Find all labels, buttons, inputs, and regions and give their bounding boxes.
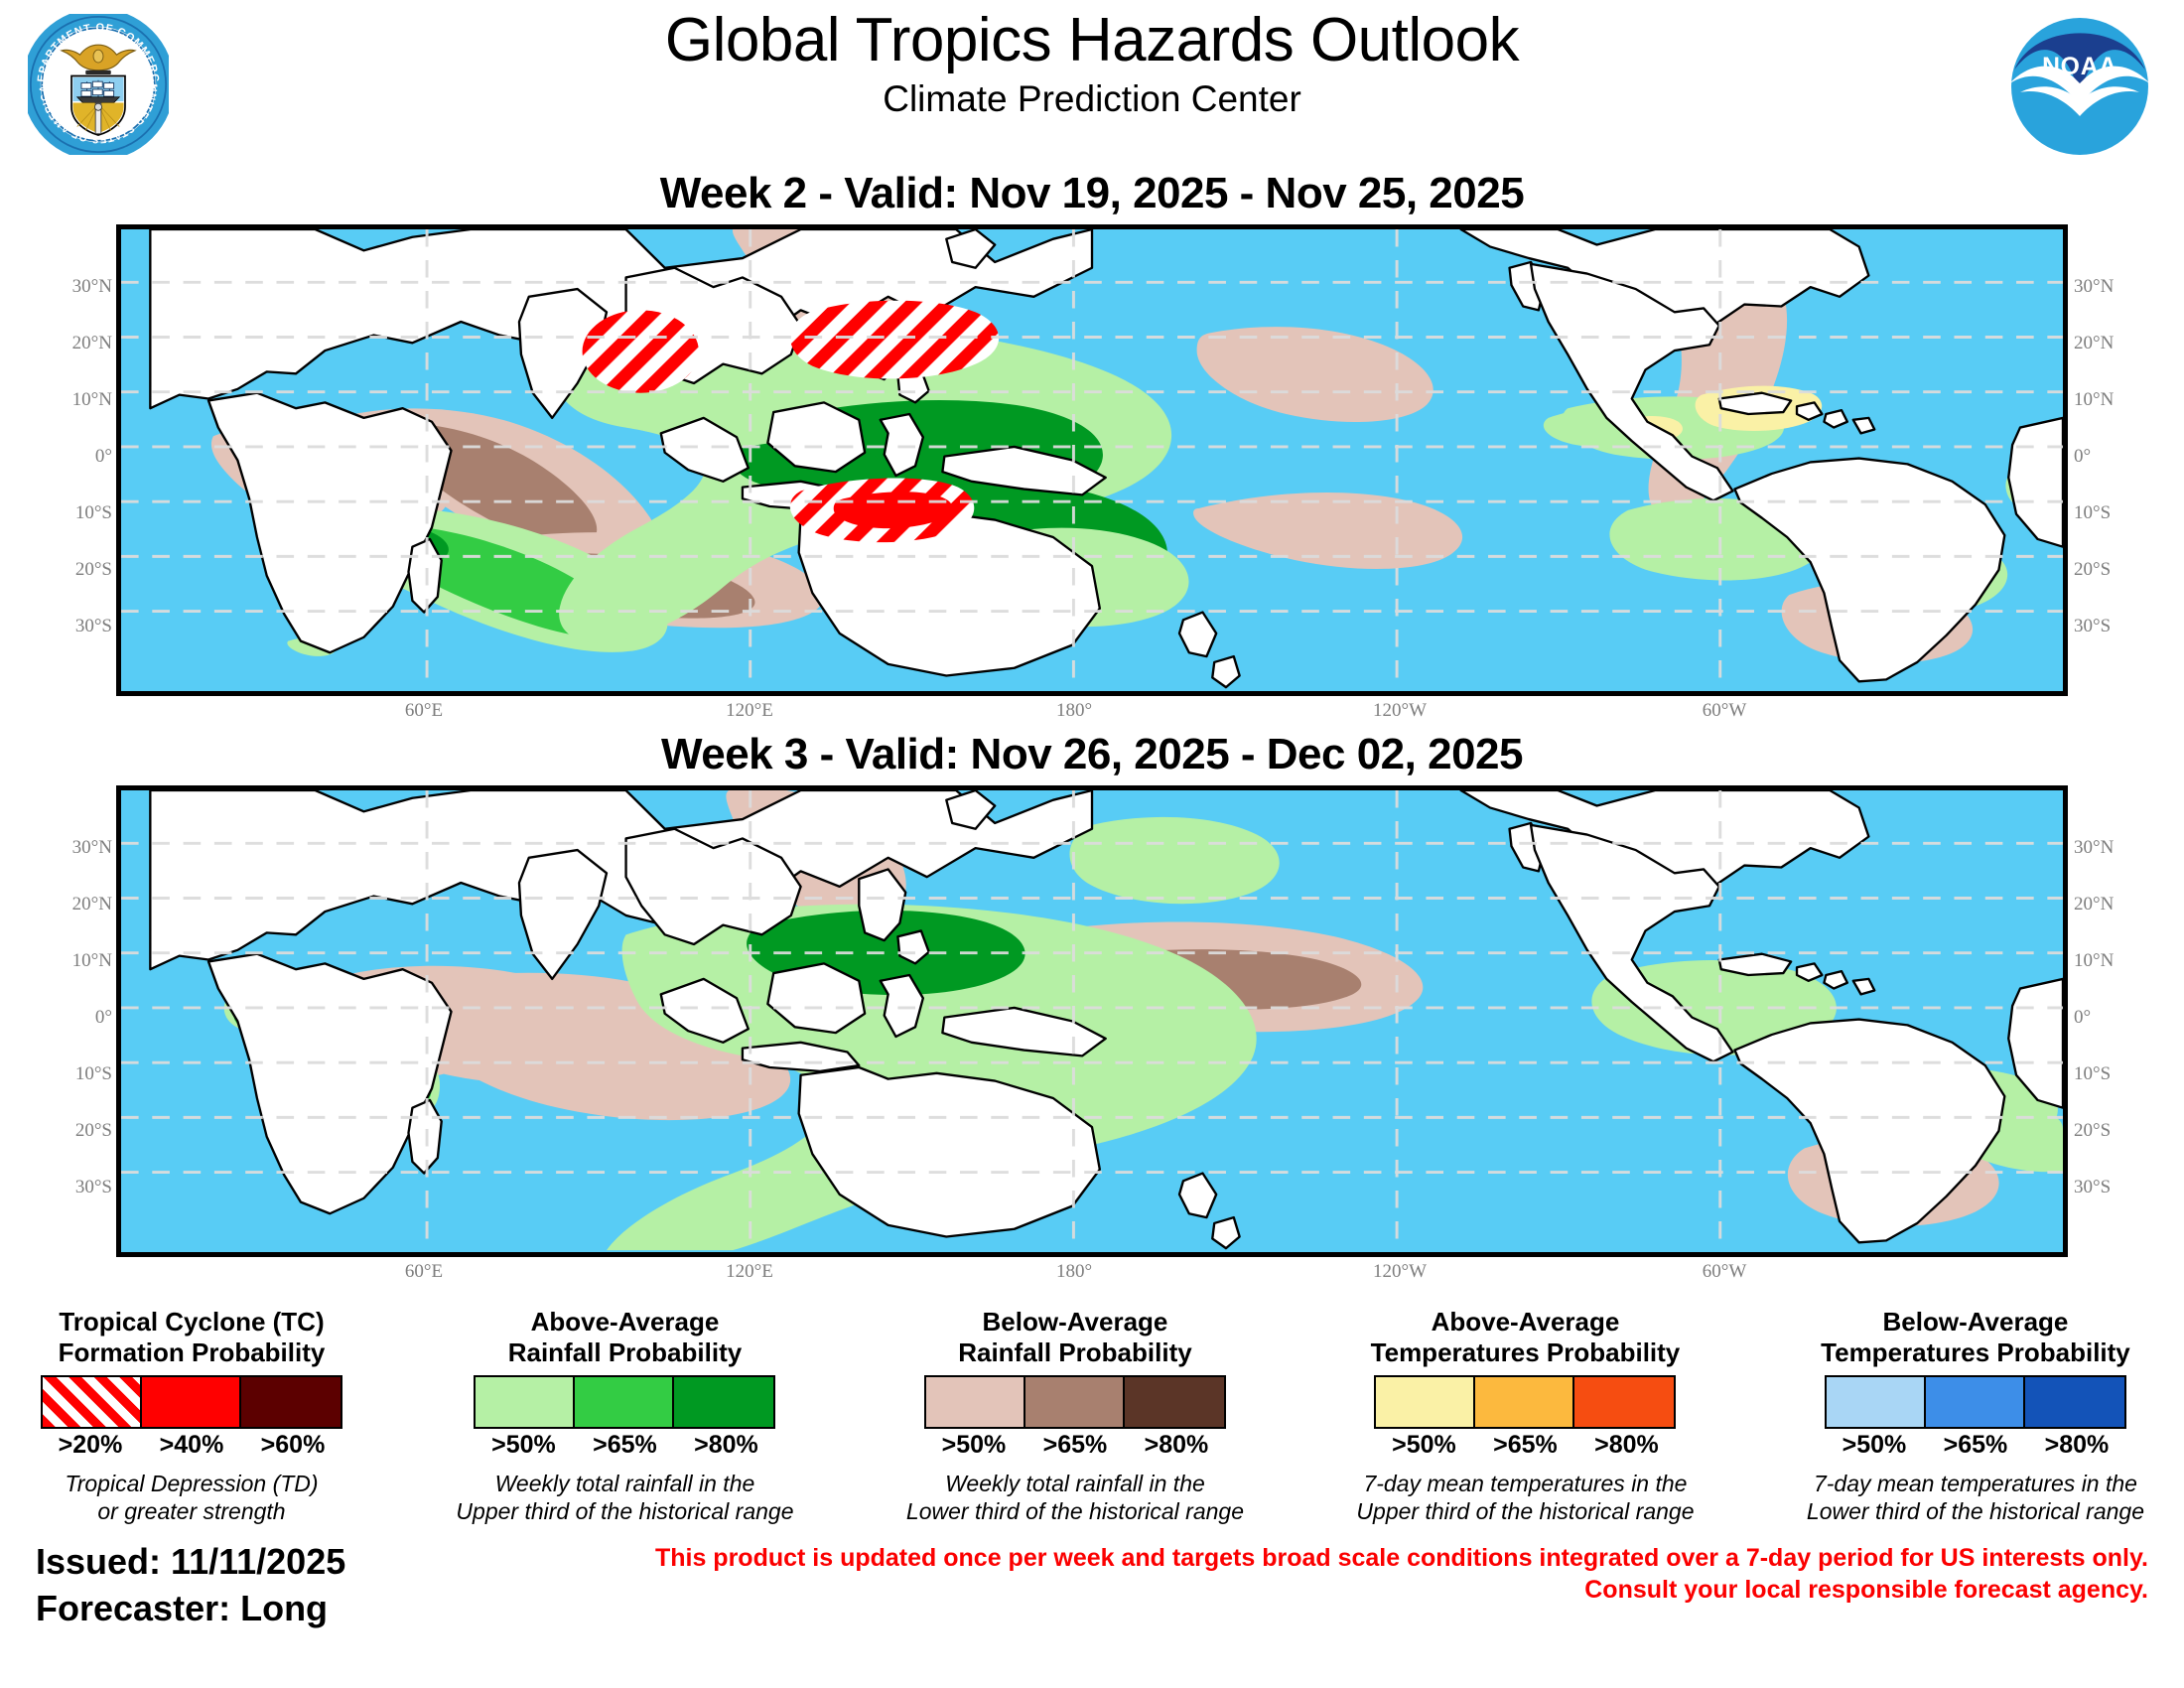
week2-lon-label-120w: 120°W bbox=[1373, 700, 1427, 722]
week2-lat-label-right-10n: 10°N bbox=[2074, 389, 2133, 411]
swatch-above-rain-80 bbox=[674, 1377, 773, 1427]
swatch-tc-20 bbox=[43, 1377, 142, 1427]
week2-lon-axis: 60°E 120°E 180° 120°W 60°W bbox=[55, 696, 2129, 730]
week3-lat-label-right-20n: 20°N bbox=[2074, 894, 2133, 915]
legend-note-above-rain: Weekly total rainfall in the Upper third… bbox=[456, 1470, 793, 1525]
week3-title: Week 3 - Valid: Nov 26, 2025 - Dec 02, 2… bbox=[0, 730, 2184, 779]
swatch-below-rain-80 bbox=[1125, 1377, 1224, 1427]
week2-lat-label-left-10s: 10°S bbox=[53, 502, 112, 524]
week3-lat-label-right-30s: 30°S bbox=[2074, 1177, 2133, 1198]
week3-lat-label-left-0: 0° bbox=[53, 1007, 112, 1029]
week3-lat-label-right-10n: 10°N bbox=[2074, 950, 2133, 972]
week2-lon-label-60e: 60°E bbox=[405, 700, 443, 722]
issued-block: Issued: 11/11/2025 Forecaster: Long bbox=[36, 1539, 345, 1630]
week3-lat-label-right-0: 0° bbox=[2074, 1007, 2133, 1029]
disclaimer-line-2: Consult your local responsible forecast … bbox=[655, 1575, 2148, 1606]
week3-lon-label-120w: 120°W bbox=[1373, 1261, 1427, 1283]
legend-swatches-above-rain bbox=[474, 1375, 775, 1429]
week2-lon-label-180: 180° bbox=[1056, 700, 1092, 722]
footer: Issued: 11/11/2025 Forecaster: Long This… bbox=[0, 1539, 2184, 1630]
legend-level-above-temp-80: >80% bbox=[1575, 1431, 1677, 1460]
week3-lat-label-right-10s: 10°S bbox=[2074, 1063, 2133, 1085]
legend-level-below-temp-65: >65% bbox=[1925, 1431, 2026, 1460]
legend-levels-below-temp: >50% >65% >80% bbox=[1824, 1431, 2127, 1460]
week3-lat-label-left-20n: 20°N bbox=[53, 894, 112, 915]
svg-text:★: ★ bbox=[41, 79, 52, 93]
week3-lon-label-60e: 60°E bbox=[405, 1261, 443, 1283]
week3-lat-label-left-30n: 30°N bbox=[53, 837, 112, 859]
week2-lat-label-right-0: 0° bbox=[2074, 446, 2133, 468]
legend-level-below-rain-50: >50% bbox=[923, 1431, 1024, 1460]
week2-lat-label-right-20n: 20°N bbox=[2074, 333, 2133, 354]
week3-lon-label-60w: 60°W bbox=[1703, 1261, 1747, 1283]
legend-level-above-rain-65: >65% bbox=[574, 1431, 675, 1460]
week2-map-panel: 30°N 20°N 10°N 0° 10°S 20°S 30°S 30°N 20… bbox=[55, 224, 2129, 696]
legend-above-avg-rainfall: Above-Average Rainfall Probability >50% … bbox=[456, 1307, 793, 1525]
legend-title-below-rain: Below-Average Rainfall Probability bbox=[906, 1307, 1244, 1367]
swatch-above-temp-65 bbox=[1475, 1377, 1574, 1427]
week3-lon-axis: 60°E 120°E 180° 120°W 60°W bbox=[55, 1257, 2129, 1291]
legend-level-below-rain-65: >65% bbox=[1024, 1431, 1126, 1460]
legend-swatches-above-temp bbox=[1374, 1375, 1676, 1429]
forecaster-name: Forecaster: Long bbox=[36, 1586, 345, 1631]
swatch-below-temp-80 bbox=[2025, 1377, 2124, 1427]
week2-lon-label-120e: 120°E bbox=[726, 700, 773, 722]
week2-lat-label-right-30s: 30°S bbox=[2074, 616, 2133, 637]
legend-levels-above-temp: >50% >65% >80% bbox=[1373, 1431, 1677, 1460]
week2-lat-label-left-0: 0° bbox=[53, 446, 112, 468]
swatch-below-temp-50 bbox=[1827, 1377, 1926, 1427]
legend-levels-above-rain: >50% >65% >80% bbox=[473, 1431, 776, 1460]
swatch-above-temp-80 bbox=[1574, 1377, 1674, 1427]
week3-map-panel: 30°N 20°N 10°N 0° 10°S 20°S 30°S 30°N 20… bbox=[55, 785, 2129, 1257]
week2-map[interactable] bbox=[116, 224, 2068, 696]
week3-lat-label-left-20s: 20°S bbox=[53, 1120, 112, 1142]
svg-text:NOAA: NOAA bbox=[2042, 54, 2117, 80]
legend-level-below-temp-80: >80% bbox=[2026, 1431, 2127, 1460]
legend-level-above-temp-65: >65% bbox=[1474, 1431, 1575, 1460]
legend-title-above-temp: Above-Average Temperatures Probability bbox=[1356, 1307, 1694, 1367]
week2-title: Week 2 - Valid: Nov 19, 2025 - Nov 25, 2… bbox=[0, 169, 2184, 218]
legend-note-tc: Tropical Depression (TD) or greater stre… bbox=[40, 1470, 343, 1525]
legend-level-tc-40: >40% bbox=[141, 1431, 242, 1460]
legend-title-below-temp: Below-Average Temperatures Probability bbox=[1807, 1307, 2144, 1367]
week2-lat-label-left-20s: 20°S bbox=[53, 559, 112, 581]
legend-below-avg-temperature: Below-Average Temperatures Probability >… bbox=[1807, 1307, 2144, 1525]
swatch-below-temp-65 bbox=[1926, 1377, 2025, 1427]
legend-swatches-below-temp bbox=[1825, 1375, 2126, 1429]
swatch-below-rain-65 bbox=[1025, 1377, 1125, 1427]
legend: Tropical Cyclone (TC) Formation Probabil… bbox=[0, 1291, 2184, 1525]
legend-level-below-rain-80: >80% bbox=[1126, 1431, 1227, 1460]
week3-map[interactable] bbox=[116, 785, 2068, 1257]
disclaimer: This product is updated once per week an… bbox=[655, 1539, 2148, 1606]
week2-lat-label-left-10n: 10°N bbox=[53, 389, 112, 411]
swatch-above-rain-65 bbox=[575, 1377, 674, 1427]
week2-lat-label-right-30n: 30°N bbox=[2074, 276, 2133, 298]
legend-level-above-rain-50: >50% bbox=[473, 1431, 574, 1460]
legend-level-above-temp-50: >50% bbox=[1373, 1431, 1474, 1460]
swatch-above-temp-50 bbox=[1376, 1377, 1475, 1427]
page-header: DEPARTMENT OF COMMERCE UNITED STATES OF … bbox=[0, 0, 2184, 169]
legend-swatches-tc bbox=[41, 1375, 342, 1429]
svg-text:★: ★ bbox=[148, 79, 159, 93]
title-block: Global Tropics Hazards Outlook Climate P… bbox=[0, 0, 2184, 120]
week2-lat-label-left-20n: 20°N bbox=[53, 333, 112, 354]
legend-title-tc: Tropical Cyclone (TC) Formation Probabil… bbox=[40, 1307, 343, 1367]
legend-levels-below-rain: >50% >65% >80% bbox=[923, 1431, 1227, 1460]
legend-title-above-rain: Above-Average Rainfall Probability bbox=[456, 1307, 793, 1367]
week3-lon-label-120e: 120°E bbox=[726, 1261, 773, 1283]
week2-lat-label-right-10s: 10°S bbox=[2074, 502, 2133, 524]
page-title: Global Tropics Hazards Outlook bbox=[0, 8, 2184, 72]
week2-lat-label-right-20s: 20°S bbox=[2074, 559, 2133, 581]
legend-note-below-rain: Weekly total rainfall in the Lower third… bbox=[906, 1470, 1244, 1525]
swatch-tc-40 bbox=[142, 1377, 241, 1427]
legend-tropical-cyclone: Tropical Cyclone (TC) Formation Probabil… bbox=[40, 1307, 343, 1525]
swatch-tc-60 bbox=[241, 1377, 341, 1427]
noaa-logo-icon: NOAA bbox=[2005, 12, 2154, 161]
legend-note-below-temp: 7-day mean temperatures in the Lower thi… bbox=[1807, 1470, 2144, 1525]
legend-swatches-below-rain bbox=[924, 1375, 1226, 1429]
swatch-below-rain-50 bbox=[926, 1377, 1025, 1427]
legend-levels-tc: >20% >40% >60% bbox=[40, 1431, 343, 1460]
week2-lon-label-60w: 60°W bbox=[1703, 700, 1747, 722]
week3-lat-label-right-30n: 30°N bbox=[2074, 837, 2133, 859]
legend-level-tc-60: >60% bbox=[242, 1431, 343, 1460]
issued-date: Issued: 11/11/2025 bbox=[36, 1539, 345, 1585]
page-subtitle: Climate Prediction Center bbox=[0, 78, 2184, 120]
week3-lat-label-left-30s: 30°S bbox=[53, 1177, 112, 1198]
legend-level-below-temp-50: >50% bbox=[1824, 1431, 1925, 1460]
legend-level-above-rain-80: >80% bbox=[675, 1431, 776, 1460]
week2-lat-label-left-30n: 30°N bbox=[53, 276, 112, 298]
week3-lat-label-right-20s: 20°S bbox=[2074, 1120, 2133, 1142]
disclaimer-line-1: This product is updated once per week an… bbox=[655, 1543, 2148, 1574]
legend-level-tc-20: >20% bbox=[40, 1431, 141, 1460]
legend-above-avg-temperature: Above-Average Temperatures Probability >… bbox=[1356, 1307, 1694, 1525]
week3-lat-label-left-10n: 10°N bbox=[53, 950, 112, 972]
legend-note-above-temp: 7-day mean temperatures in the Upper thi… bbox=[1356, 1470, 1694, 1525]
week3-lat-label-left-10s: 10°S bbox=[53, 1063, 112, 1085]
swatch-above-rain-50 bbox=[476, 1377, 575, 1427]
week2-lat-label-left-30s: 30°S bbox=[53, 616, 112, 637]
week3-lon-label-180: 180° bbox=[1056, 1261, 1092, 1283]
legend-below-avg-rainfall: Below-Average Rainfall Probability >50% … bbox=[906, 1307, 1244, 1525]
department-of-commerce-seal-icon: DEPARTMENT OF COMMERCE UNITED STATES OF … bbox=[28, 14, 169, 155]
